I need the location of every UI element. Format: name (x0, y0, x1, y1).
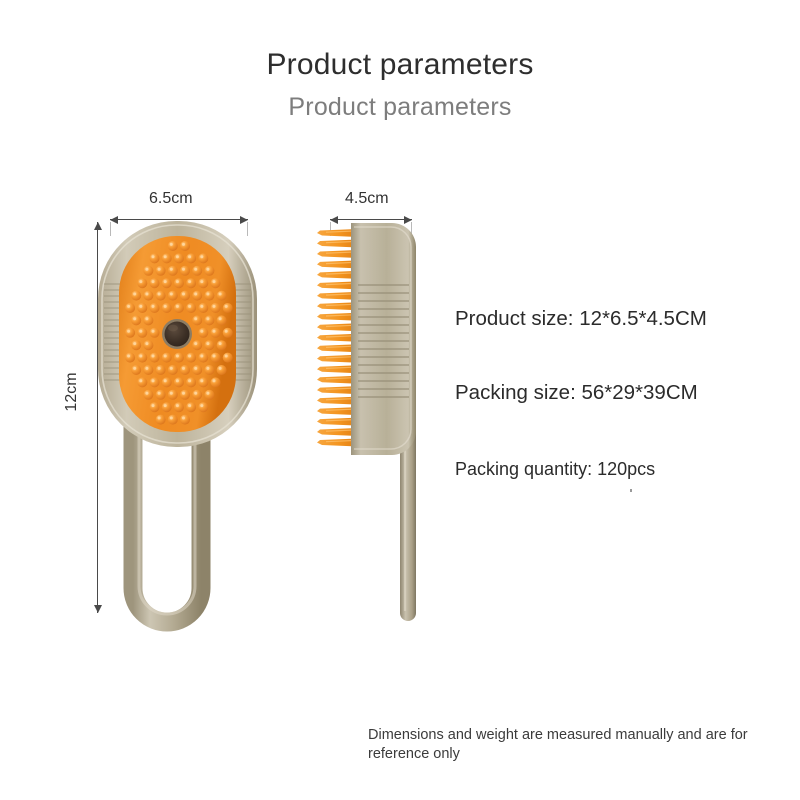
front-handle-loop (133, 418, 201, 622)
disclaimer-text: Dimensions and weight are measured manua… (368, 726, 778, 764)
dimension-label-height: 12cm (63, 372, 81, 411)
spec-packing-size: Packing size: 56*29*39CM (455, 381, 698, 405)
product-parameters-page: Product parameters Product parameters 6.… (0, 0, 800, 800)
side-body-shell (351, 223, 416, 455)
spec-product-size: Product size: 12*6.5*4.5CM (455, 307, 707, 331)
product-front-view (95, 218, 260, 638)
dimension-label-width-side: 4.5cm (345, 190, 389, 208)
spec-packing-quantity: Packing quantity: 120pcs (455, 459, 655, 480)
steam-nozzle-hole (162, 319, 192, 349)
dimension-label-width-front: 6.5cm (149, 190, 193, 208)
product-side-view (296, 213, 446, 633)
stray-dot-mark (630, 489, 632, 492)
page-subtitle: Product parameters (0, 93, 800, 122)
page-title: Product parameters (0, 48, 800, 82)
